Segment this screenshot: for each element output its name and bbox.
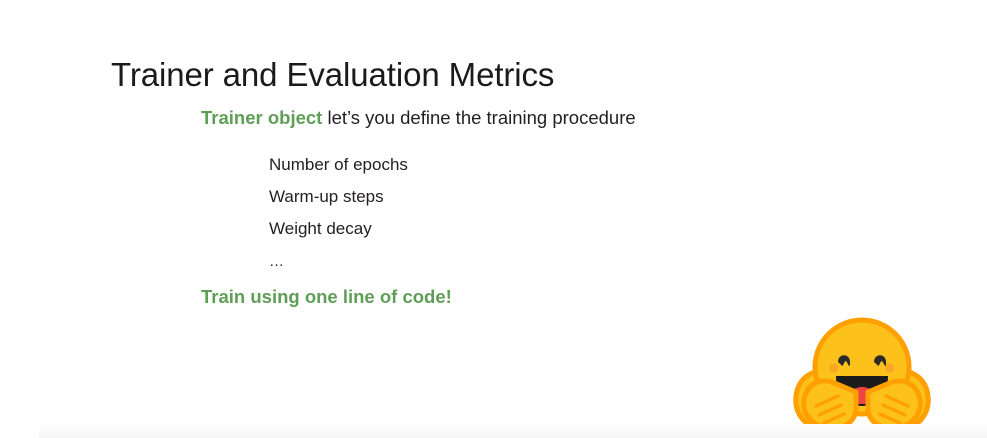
hugging-face-emoji [792,310,932,438]
list-item: Weight decay [269,213,408,245]
list-item: Number of epochs [269,149,408,181]
bottom-divider-strip [39,424,987,438]
list-item-ellipsis: … [269,245,408,278]
feature-bullet-list: Number of epochs Warm-up steps Weight de… [269,149,408,278]
lead-accent-term: Trainer object [201,107,322,128]
slide-canvas: Trainer and Evaluation Metrics Trainer o… [0,0,987,438]
list-item: Warm-up steps [269,181,408,213]
lead-rest-text: let’s you define the training procedure [322,107,635,128]
page-title: Trainer and Evaluation Metrics [111,55,554,95]
lead-statement: Trainer object let’s you define the trai… [201,106,636,131]
closing-callout: Train using one line of code! [201,286,452,308]
